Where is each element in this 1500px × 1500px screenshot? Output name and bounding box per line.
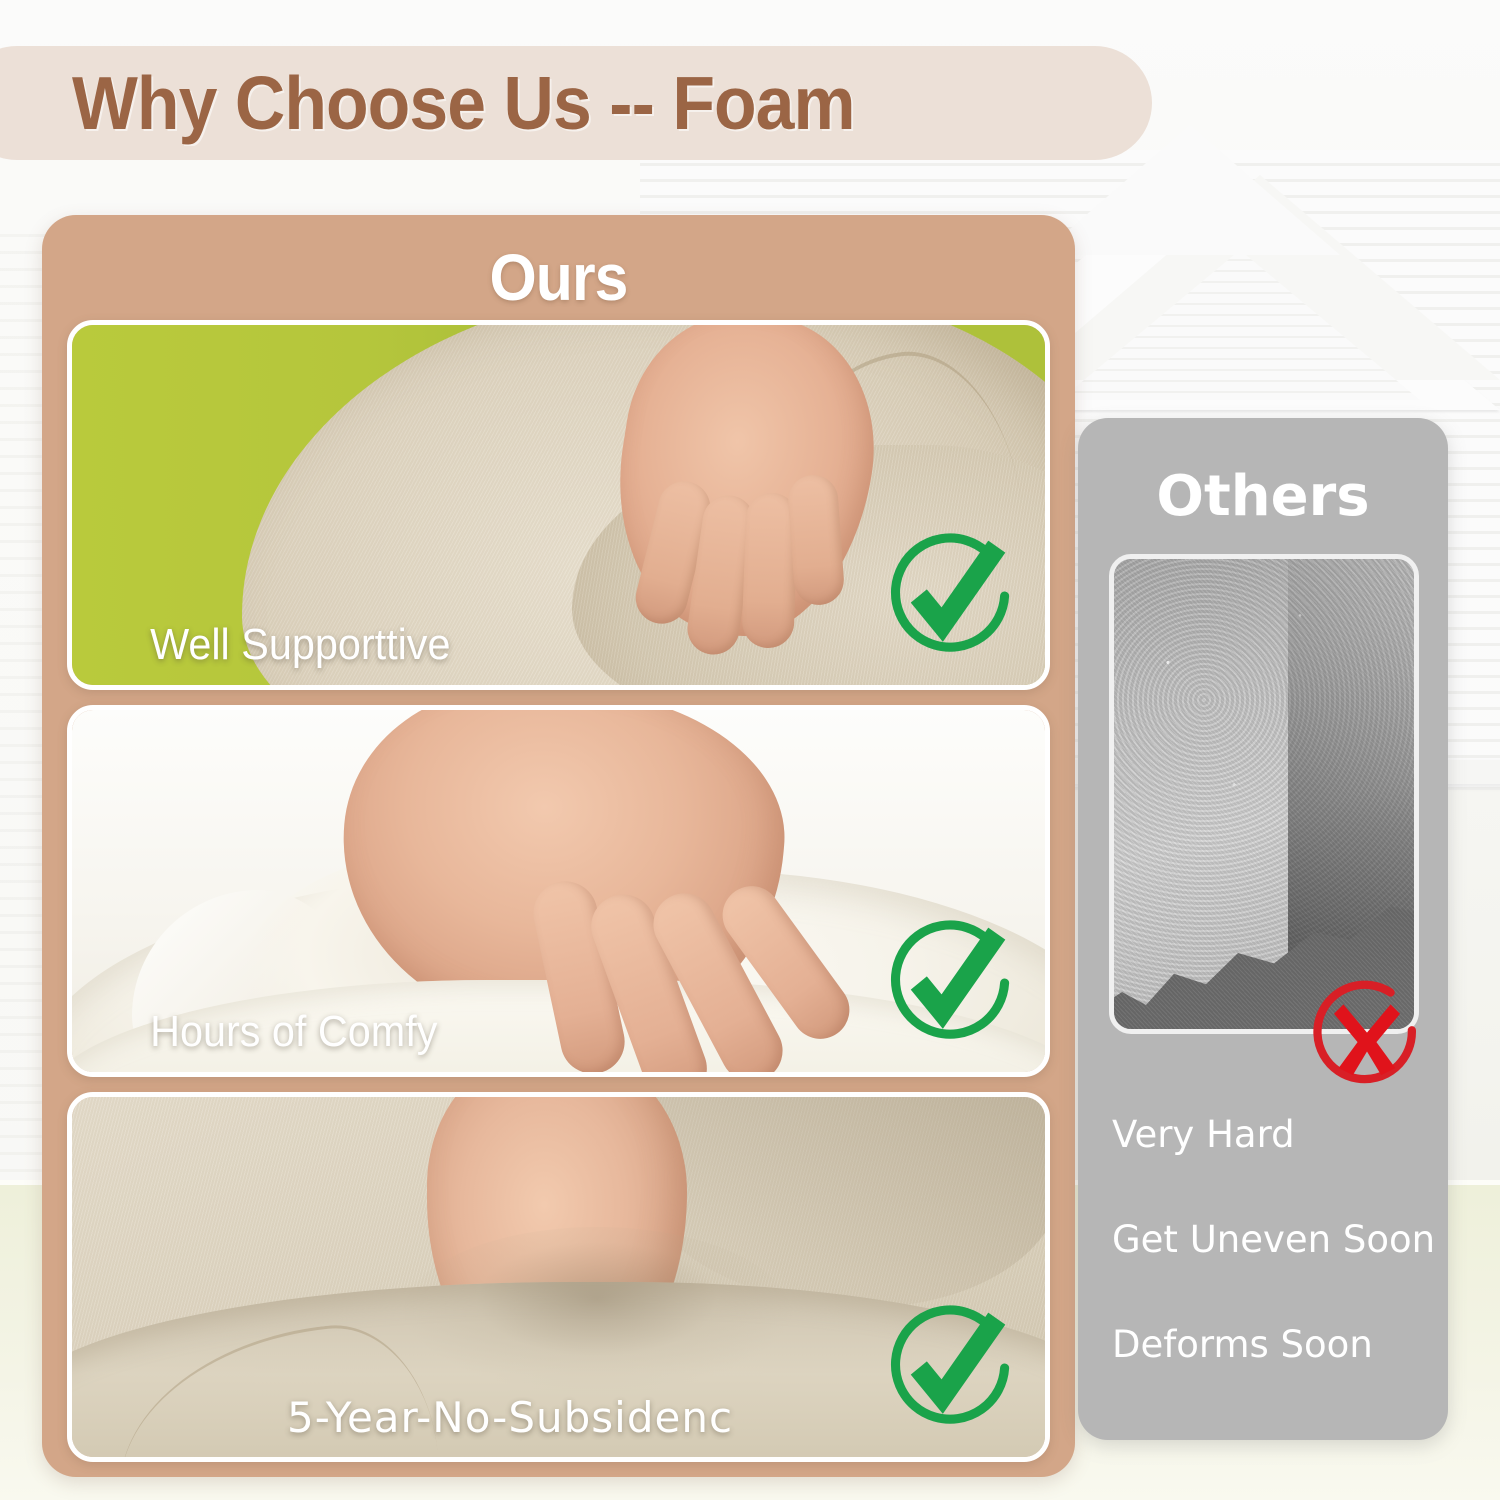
others-item-3: Deforms Soon	[1112, 1326, 1373, 1363]
ours-feature-photo-1	[72, 325, 1045, 685]
ours-panel-title: Ours	[83, 239, 1033, 315]
others-foam-photo[interactable]	[1109, 554, 1419, 1034]
ours-feature-card-1[interactable]: Well Supporttive	[67, 320, 1050, 690]
ours-feature-card-3[interactable]: 5-Year-No-Subsidenc	[67, 1092, 1050, 1462]
finger-shape	[787, 473, 846, 606]
cushion-dip	[402, 1227, 792, 1407]
ours-feature-photo-3	[72, 1097, 1045, 1457]
others-item-1: Very Hard	[1112, 1116, 1295, 1153]
ours-feature-photo-2	[72, 710, 1045, 1072]
ours-panel: Ours Well Supporttive	[42, 215, 1075, 1477]
ours-feature-card-2[interactable]: Hours of Comfy	[67, 705, 1050, 1077]
red-x-icon	[1308, 976, 1426, 1094]
photo-grain-overlay	[1114, 559, 1414, 1029]
others-item-2: Get Uneven Soon	[1112, 1221, 1435, 1258]
others-panel-title: Others	[1078, 464, 1448, 529]
title-banner: Why Choose Us -- Foam	[0, 46, 1152, 160]
page-title: Why Choose Us -- Foam	[72, 66, 855, 141]
others-panel: Others Very Hard Get Uneven Soon Deforms…	[1078, 418, 1448, 1440]
